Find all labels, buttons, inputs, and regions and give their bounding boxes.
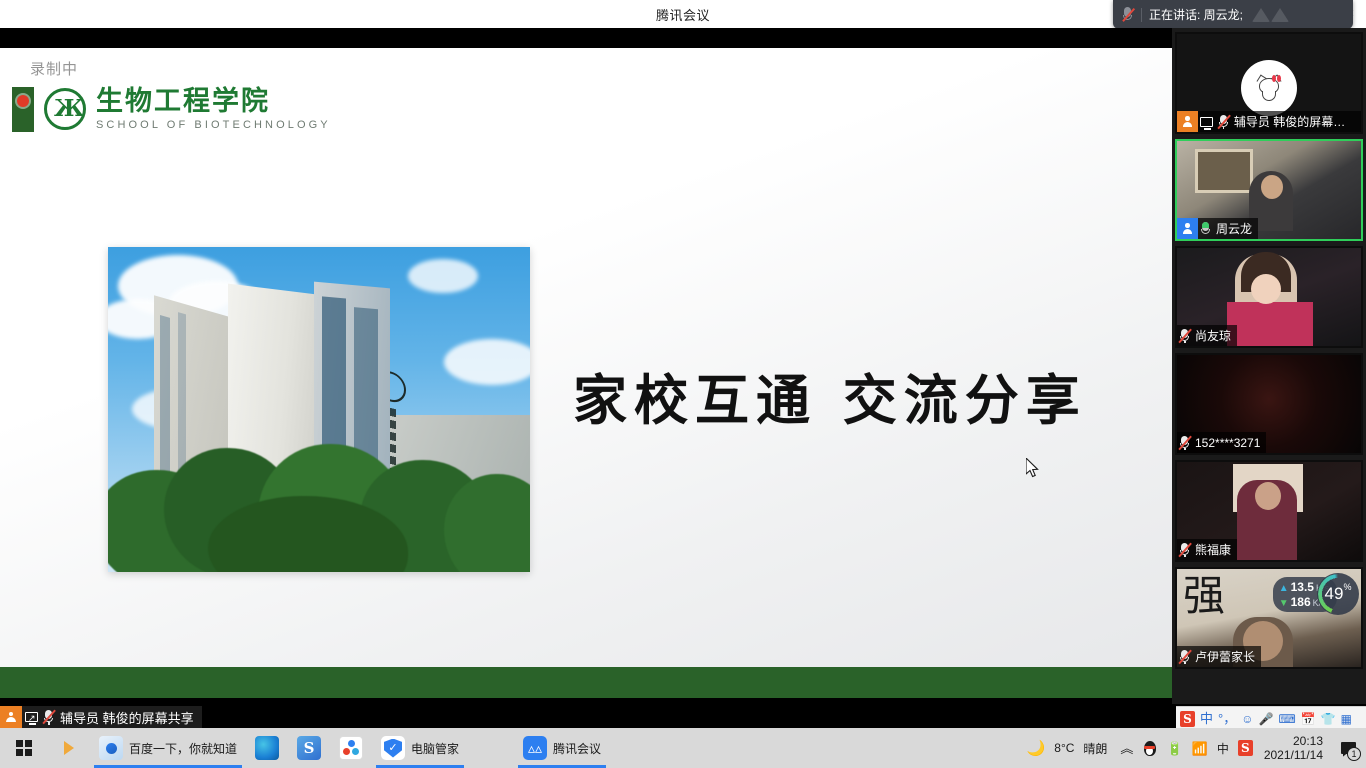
recording-badge: 录制中 — [30, 58, 78, 79]
participant-tile[interactable]: 周云龙 — [1175, 139, 1363, 241]
cpu-usage-unit: % — [1343, 582, 1351, 592]
baidu-icon — [99, 736, 123, 760]
screen-share-owner-strip: ↗ 辅导员 韩俊的屏幕共享 — [0, 706, 202, 728]
slide-green-bar — [0, 667, 1172, 698]
participant-name: 152****3271 — [1195, 436, 1260, 450]
participant-tile[interactable]: 152****3271 — [1175, 353, 1363, 455]
recording-dot-icon — [17, 95, 29, 107]
foliage — [108, 422, 530, 572]
speaking-now-toast: 正在讲话: 周云龙; — [1113, 0, 1353, 29]
sogou-ime-icon[interactable]: S — [1238, 740, 1253, 756]
chevron-up-icon[interactable]: ︽ — [1120, 742, 1133, 755]
wifi-icon[interactable]: 📶 — [1192, 742, 1208, 755]
system-tray[interactable]: 🌙 8°C 晴朗 ︽ 🔋 📶 中 S 20:13 2021/11/14 1 — [1027, 728, 1366, 768]
logo-english-name: SCHOOL OF BIOTECHNOLOGY — [96, 119, 331, 131]
sogou-ime-logo-icon[interactable]: S — [1180, 711, 1195, 727]
mic-muted-icon — [1177, 327, 1192, 345]
voice-input-icon[interactable]: 🎤 — [1258, 712, 1273, 726]
window-title: 腾讯会议 — [656, 5, 710, 24]
taskbar-item-label: 百度一下，你就知道 — [129, 740, 237, 757]
taskbar-item-tencent-meeting[interactable]: ▵▵ 腾讯会议 — [514, 728, 610, 768]
skin-shirt-icon[interactable]: 👕 — [1321, 712, 1336, 726]
moon-icon: 🌙 — [1027, 742, 1046, 755]
weather-temperature[interactable]: 8°C — [1054, 741, 1074, 755]
host-person-icon — [1177, 218, 1198, 239]
participant-name: 卢伊蕾家长 — [1195, 648, 1255, 665]
screen-share-owner-label: 辅导员 韩俊的屏幕共享 — [60, 708, 194, 727]
tencent-meeting-icon: ▵▵ — [523, 736, 547, 760]
participant-tile[interactable]: 尚友琼 — [1175, 246, 1363, 348]
wps-icon — [339, 736, 363, 760]
school-logo: Ж 生物工程学院 SCHOOL OF BIOTECHNOLOGY — [12, 86, 331, 132]
calendar-icon[interactable]: 📅 — [1301, 712, 1316, 726]
network-speed-widget: ▲ 13.5 K/s ▼ 186 K/s 49 % — [1273, 573, 1359, 615]
taskbar-item-label: 电脑管家 — [411, 740, 459, 757]
mic-muted-icon — [1216, 113, 1231, 131]
notification-center-button[interactable]: 1 — [1336, 736, 1360, 760]
divider — [1141, 8, 1142, 22]
shared-screen-area[interactable]: Ж 生物工程学院 SCHOOL OF BIOTECHNOLOGY 录制中 — [0, 28, 1172, 728]
clock-date: 2021/11/14 — [1264, 748, 1323, 762]
play-icon — [57, 736, 81, 760]
mic-muted-icon — [41, 708, 56, 726]
clock-time: 20:13 — [1293, 734, 1323, 748]
download-speed-value: 186 — [1291, 595, 1311, 609]
toolbox-grid-icon[interactable]: ▦ — [1341, 712, 1352, 726]
mic-muted-icon — [1177, 434, 1192, 452]
sogou-ime-toolbar[interactable]: S 中 °， ☺ 🎤 ⌨ 📅 👕 ▦ — [1176, 706, 1366, 730]
weather-condition[interactable]: 晴朗 — [1083, 740, 1107, 757]
participant-name: 尚友琼 — [1195, 327, 1231, 344]
screen-share-icon: ↗ — [22, 706, 41, 728]
participant-name: 熊福康 — [1195, 541, 1231, 558]
sogou-icon: S — [297, 736, 321, 760]
mic-muted-icon — [1177, 541, 1192, 559]
emoji-icon[interactable]: ☺ — [1241, 712, 1253, 726]
windows-logo-icon — [16, 740, 32, 756]
upload-speed-value: 13.5 — [1291, 580, 1314, 594]
taskbar-item-wps-office[interactable] — [330, 728, 372, 768]
slide-title: 家校互通 交流分享 — [573, 356, 1087, 435]
logo-emblem-icon: Ж — [42, 86, 88, 132]
taskbar-item-media-player[interactable] — [48, 728, 90, 768]
taskbar-item-pc-manager[interactable]: ✓ 电脑管家 — [372, 728, 468, 768]
clock[interactable]: 20:13 2021/11/14 — [1264, 734, 1323, 762]
taskbar-item-microsoft-edge[interactable] — [246, 728, 288, 768]
participant-tile[interactable]: 辅导员 韩俊的屏幕共... — [1175, 32, 1363, 134]
download-arrow-icon: ▼ — [1279, 598, 1289, 609]
qq-penguin-icon[interactable] — [1142, 740, 1157, 757]
participant-name: 辅导员 韩俊的屏幕共... — [1234, 113, 1355, 130]
mic-muted-icon — [1177, 648, 1192, 666]
taskbar-item-sogou-browser[interactable]: S — [288, 728, 330, 768]
ime-mode-indicator[interactable]: 中 — [1217, 740, 1229, 757]
mic-active-icon — [1198, 220, 1213, 238]
chevron-waves-icon — [1252, 8, 1289, 22]
cpu-usage-ring: 49 % — [1317, 573, 1359, 615]
start-button[interactable] — [0, 728, 48, 768]
taskbar-item-label: 腾讯会议 — [553, 740, 601, 757]
participant-tile[interactable]: 熊福康 — [1175, 460, 1363, 562]
upload-arrow-icon: ▲ — [1279, 583, 1289, 594]
windows-taskbar[interactable]: 百度一下，你就知道 S ✓ 电脑管家 ▵▵ 腾讯会议 🌙 — [0, 728, 1366, 768]
mouse-cursor-icon — [1026, 458, 1040, 478]
ime-punctuation-toggle[interactable]: °， — [1218, 712, 1236, 726]
shield-icon: ✓ — [381, 736, 405, 760]
logo-flag-block — [12, 87, 34, 132]
avatar — [1241, 60, 1297, 116]
host-person-icon — [1177, 111, 1198, 132]
hello-kitty-avatar-icon — [1254, 74, 1284, 102]
screen-share-icon — [1198, 111, 1216, 132]
edge-icon — [255, 736, 279, 760]
campus-building-photo — [108, 247, 530, 572]
participant-rail[interactable]: 辅导员 韩俊的屏幕共... 周云龙 — [1172, 28, 1366, 704]
notification-count: 1 — [1347, 747, 1361, 761]
participant-tile[interactable]: 强 ▲ 13.5 K/s ▼ 186 K/s 49 — [1175, 567, 1363, 669]
logo-chinese-name: 生物工程学院 — [96, 88, 331, 115]
desktop-root: 腾讯会议 × 正在讲话: 周云龙; Ж 生物工程学院 SCHOOL OF B — [0, 0, 1366, 768]
mic-muted-icon — [1121, 6, 1134, 23]
ime-mode-toggle[interactable]: 中 — [1200, 712, 1213, 726]
host-person-icon — [0, 706, 22, 728]
presentation-slide: Ж 生物工程学院 SCHOOL OF BIOTECHNOLOGY 录制中 — [0, 48, 1172, 698]
speaking-now-label: 正在讲话: 周云龙; — [1149, 6, 1243, 23]
soft-keyboard-icon[interactable]: ⌨ — [1278, 712, 1295, 726]
cpu-usage-value: 49 — [1325, 584, 1344, 604]
battery-icon[interactable]: 🔋 — [1166, 742, 1182, 755]
participant-name: 周云龙 — [1216, 220, 1252, 237]
taskbar-item-baidu-browser[interactable]: 百度一下，你就知道 — [90, 728, 246, 768]
